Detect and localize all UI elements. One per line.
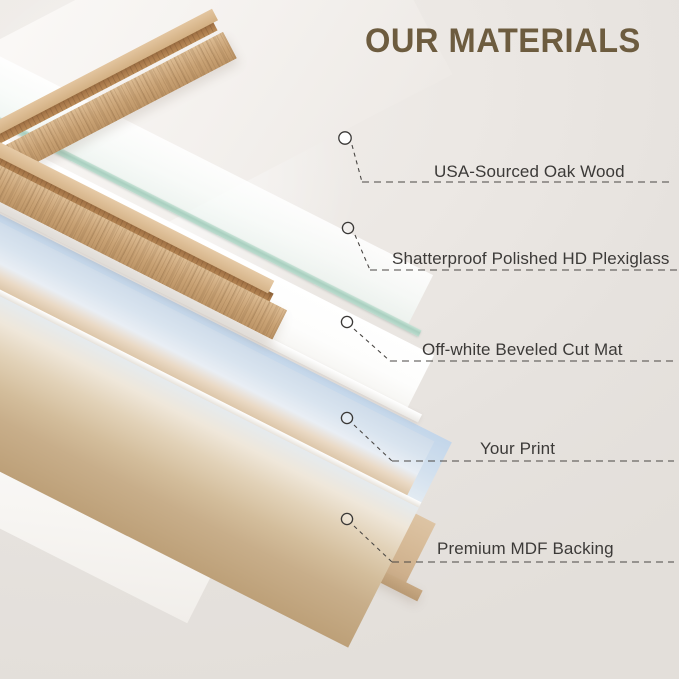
callout-label-oak-wood: USA-Sourced Oak Wood: [434, 162, 625, 182]
callout-label-mat: Off-white Beveled Cut Mat: [422, 340, 623, 360]
callout-label-mdf: Premium MDF Backing: [437, 539, 614, 559]
callout-label-plexiglass: Shatterproof Polished HD Plexiglass: [392, 249, 670, 269]
product-infographic: OUR MATERIALS USA-Sourced Oak Wood Shatt…: [0, 0, 679, 679]
callout-labels: USA-Sourced Oak Wood Shatterproof Polish…: [0, 0, 679, 679]
callout-label-print: Your Print: [480, 439, 555, 459]
